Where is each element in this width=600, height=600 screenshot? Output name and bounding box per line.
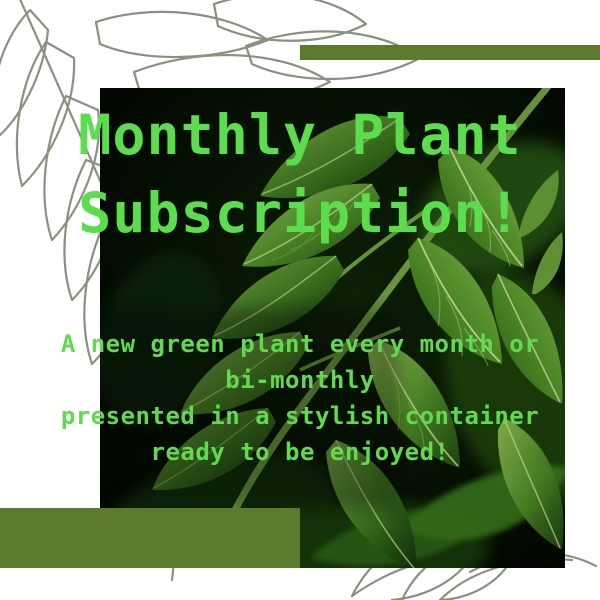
top-accent-bar [300, 45, 600, 60]
bottom-accent-bar [0, 508, 300, 568]
plant-photo [100, 88, 565, 568]
poster-canvas: Monthly Plant Subscription! A new green … [0, 0, 600, 600]
foliage-illustration-icon [100, 88, 565, 568]
